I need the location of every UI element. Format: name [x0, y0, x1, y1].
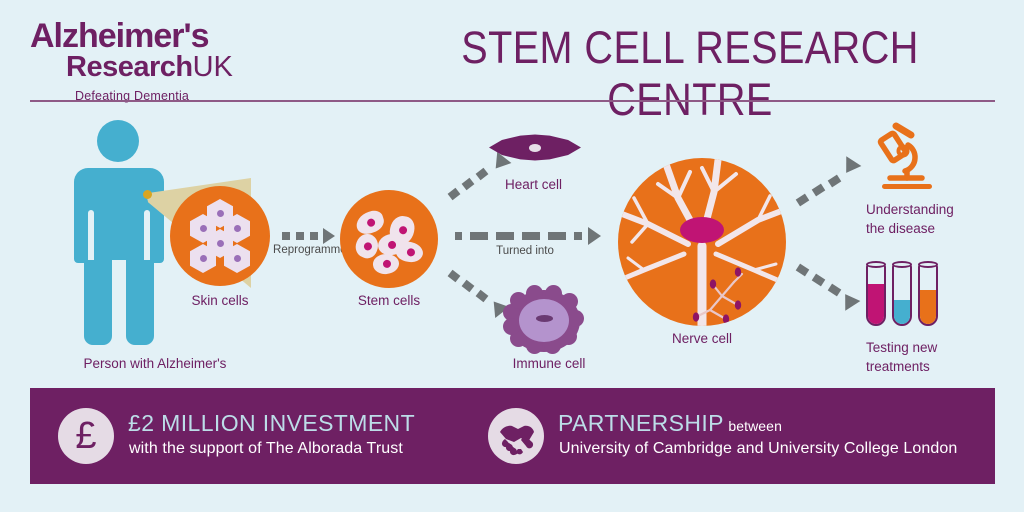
arrow-dash [548, 232, 566, 240]
arrow-dash [796, 194, 810, 207]
arrow-dash [296, 232, 304, 240]
logo-research-word: Research [66, 51, 193, 83]
stem-cell-nucleus [406, 248, 416, 258]
test-tubes-label-line-1: Testing new [866, 338, 937, 357]
microscope-icon [876, 122, 938, 194]
stem-cell-blob [372, 253, 400, 276]
tube-fill-orange [920, 290, 936, 324]
skin-sample-dot [143, 190, 152, 199]
pound-icon: £ [58, 408, 114, 464]
tube-rim [866, 261, 886, 268]
microscope-label-line-2: the disease [866, 219, 954, 238]
test-tube [918, 264, 938, 326]
immune-cell [508, 290, 580, 352]
membrane-lobe [567, 310, 584, 327]
page-title: STEM CELL RESEARCH CENTRE [408, 22, 971, 126]
alzheimers-research-uk-logo: Alzheimer's ResearchUK Defeating Dementi… [30, 20, 330, 103]
person-arm-gap-left [88, 210, 94, 265]
test-tubes-icon [866, 264, 942, 326]
nerve-cell-label: Nerve cell [622, 330, 782, 347]
partnership-heading: PARTNERSHIP [558, 410, 724, 436]
arrow-dash [476, 168, 489, 180]
infographic-canvas: Alzheimer's ResearchUK Defeating Dementi… [0, 0, 1024, 512]
partnership-between-word: between [728, 418, 782, 434]
arrow-dash [812, 184, 826, 197]
partnership-heading-row: PARTNERSHIP between [558, 410, 782, 437]
membrane-lobe [503, 318, 520, 335]
person-leg-gap [112, 260, 126, 320]
test-tubes-label-line-2: treatments [866, 357, 937, 376]
neuron-drawing [618, 158, 786, 326]
skin-cells-label: Skin cells [140, 292, 300, 309]
arrow-dash [812, 274, 826, 287]
arrow-dash [522, 232, 540, 240]
immune-cell-nucleus [536, 315, 553, 322]
immune-cell-label: Immune cell [474, 355, 624, 372]
logo-line-2: ResearchUK [66, 52, 330, 87]
skin-hex-nucleus [200, 255, 207, 262]
neuron-nucleus [680, 217, 724, 243]
skin-hex-nucleus [234, 255, 241, 262]
stem-cell-nucleus [398, 225, 407, 234]
arrow-dash [828, 284, 842, 297]
stem-cell-nucleus [366, 218, 376, 228]
test-tubes-label: Testing new treatments [866, 338, 937, 376]
header-divider [30, 100, 995, 102]
stem-cell-nucleus [363, 241, 373, 251]
bottom-banner: £ £2 MILLION INVESTMENT with the support… [30, 388, 995, 484]
arrow-head [838, 289, 861, 311]
arrow-head [839, 156, 862, 178]
stem-cell-nucleus [388, 240, 397, 249]
arrow-dash [448, 270, 461, 282]
tube-rim [918, 261, 938, 268]
arrow-dash [476, 290, 489, 302]
microscope-label: Understanding the disease [866, 200, 954, 238]
pound-icon-circle: £ [58, 408, 114, 464]
person-label: Person with Alzheimer's [40, 355, 270, 372]
heart-cell-label: Heart cell [505, 176, 562, 193]
skin-hex-nucleus [217, 240, 224, 247]
arrow-dash [462, 178, 475, 190]
logo-line-1: Alzheimer's [30, 20, 330, 52]
arrow-head [323, 228, 335, 244]
tube-fill-magenta [868, 284, 884, 324]
microscope-glyph [876, 122, 938, 194]
arrow-dash [455, 232, 462, 240]
skin-hex-nucleus [217, 210, 224, 217]
arrow-dash [282, 232, 290, 240]
arrow-turned-into-label: Turned into [470, 245, 580, 257]
tube-rim [892, 261, 912, 268]
person-leg-left [84, 260, 112, 345]
person-figure [70, 120, 170, 345]
arrow-dash [828, 175, 842, 188]
arrow-head [588, 227, 601, 245]
arrow-dash [448, 188, 461, 200]
stem-cells-circle [340, 190, 438, 288]
arrow-dash [796, 264, 810, 277]
test-tube [866, 264, 886, 326]
arrow-dash [462, 280, 475, 292]
microscope-label-line-1: Understanding [866, 200, 954, 219]
handshake-icon-circle [488, 408, 544, 464]
partnership-subheading: University of Cambridge and University C… [559, 440, 957, 458]
investment-heading: £2 MILLION INVESTMENT [128, 410, 415, 437]
skin-cells-circle [170, 186, 270, 286]
stem-cell-nucleus [383, 259, 392, 268]
skin-hex-nucleus [200, 225, 207, 232]
stem-cell-blob [353, 208, 386, 237]
arrow-dash [310, 232, 318, 240]
skin-hex-nucleus [234, 225, 241, 232]
logo-uk-word: UK [193, 51, 233, 83]
arrow-dash [470, 232, 488, 240]
stem-cells-label: Stem cells [309, 292, 469, 309]
investment-subheading: with the support of The Alborada Trust [129, 440, 403, 458]
arrow-dash [496, 232, 514, 240]
heart-cell-nucleus [529, 144, 541, 152]
test-tube [892, 264, 912, 326]
nerve-cell-circle [618, 158, 786, 326]
person-arm-gap-right [144, 210, 150, 265]
person-head [97, 120, 139, 162]
tube-fill-blue [894, 300, 910, 324]
handshake-icon [488, 408, 544, 464]
arrow-dash [574, 232, 582, 240]
